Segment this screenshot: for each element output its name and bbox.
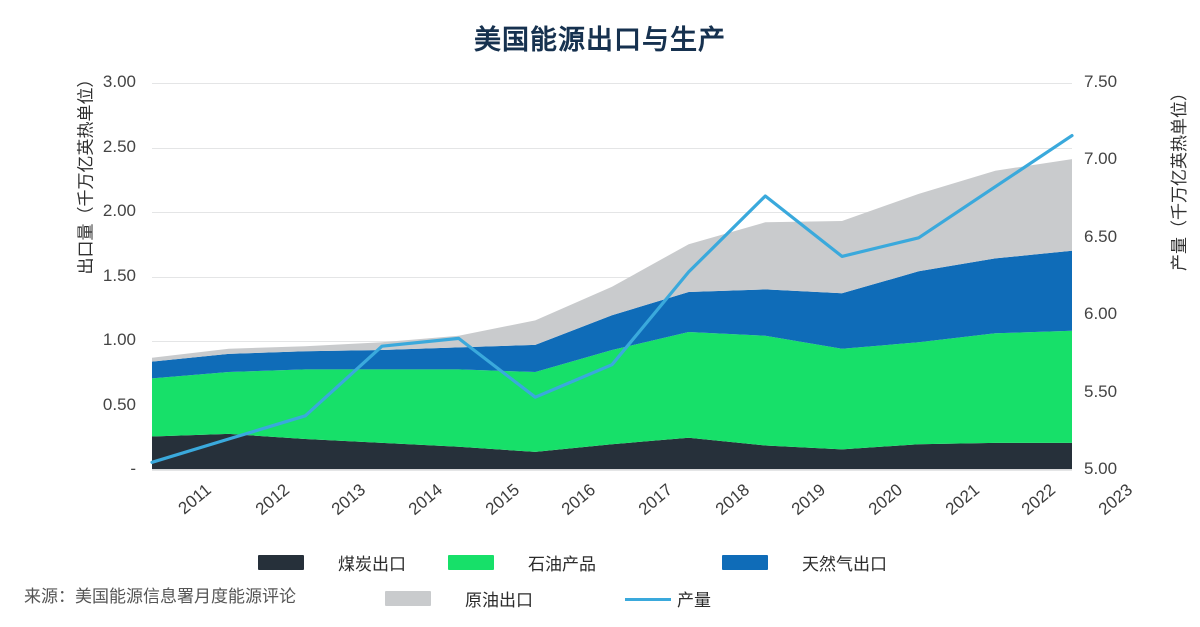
plot-area [152,83,1072,470]
x-axis-tick-label: 2021 [942,480,984,520]
axis-baseline [152,469,1072,470]
x-axis-tick-label: 2014 [405,480,447,520]
legend-color-swatch-icon [722,555,768,570]
x-axis-tick-label: 2022 [1018,480,1060,520]
x-axis-tick-label: 2018 [712,480,754,520]
x-axis-tick-label: 2016 [558,480,600,520]
legend-line-swatch-icon [625,598,671,601]
legend-label: 天然气出口 [802,550,887,575]
legend-label: 石油产品 [528,550,596,575]
left-axis-tick-label: 0.50 [103,395,136,415]
page-title: 美国能源出口与生产 [0,18,1200,57]
x-axis-tick-label: 2012 [252,480,294,520]
legend-item-原油出口[interactable]: 原油出口 [385,586,533,611]
legend-color-swatch-icon [258,555,304,570]
legend-color-swatch-icon [448,555,494,570]
gridline [152,470,1072,471]
left-axis-tick-label: - [130,459,136,479]
source-note: 来源：美国能源信息署月度能源评论 [24,582,296,607]
left-axis-tick-label: 2.00 [103,201,136,221]
left-axis-tick-label: 3.00 [103,72,136,92]
right-axis-tick-label: 5.00 [1084,459,1117,479]
x-axis-tick-label: 2017 [635,480,677,520]
right-axis-tick-label: 6.50 [1084,227,1117,247]
left-axis-title: 出口量（千万亿英热单位） [72,71,97,275]
right-axis-tick-label: 7.00 [1084,149,1117,169]
x-axis-tick-label: 2013 [328,480,370,520]
chart-container: 美国能源出口与生产 出口量（千万亿英热单位） 产量（千万亿英热单位） 3.002… [0,0,1200,627]
legend-item-煤炭出口[interactable]: 煤炭出口 [258,550,406,575]
left-axis-tick-label: 1.00 [103,330,136,350]
legend-color-swatch-icon [385,591,431,606]
plot-svg [152,83,1072,470]
x-axis-tick-label: 2019 [788,480,830,520]
legend-label: 煤炭出口 [338,550,406,575]
legend-label: 原油出口 [465,586,533,611]
legend-item-天然气出口[interactable]: 天然气出口 [722,550,887,575]
right-axis-tick-label: 6.00 [1084,304,1117,324]
legend-label: 产量 [677,586,711,611]
legend-item-产量[interactable]: 产量 [625,586,711,611]
left-axis-tick-label: 1.50 [103,266,136,286]
left-axis-tick-label: 2.50 [103,137,136,157]
legend-item-石油产品[interactable]: 石油产品 [448,550,596,575]
right-axis-title: 产量（千万亿英热单位） [1165,84,1190,271]
x-axis-tick-label: 2023 [1095,480,1137,520]
x-axis-tick-label: 2020 [865,480,907,520]
right-axis-tick-label: 7.50 [1084,72,1117,92]
x-axis-tick-label: 2015 [482,480,524,520]
right-axis-tick-label: 5.50 [1084,382,1117,402]
x-axis-tick-label: 2011 [175,480,216,519]
